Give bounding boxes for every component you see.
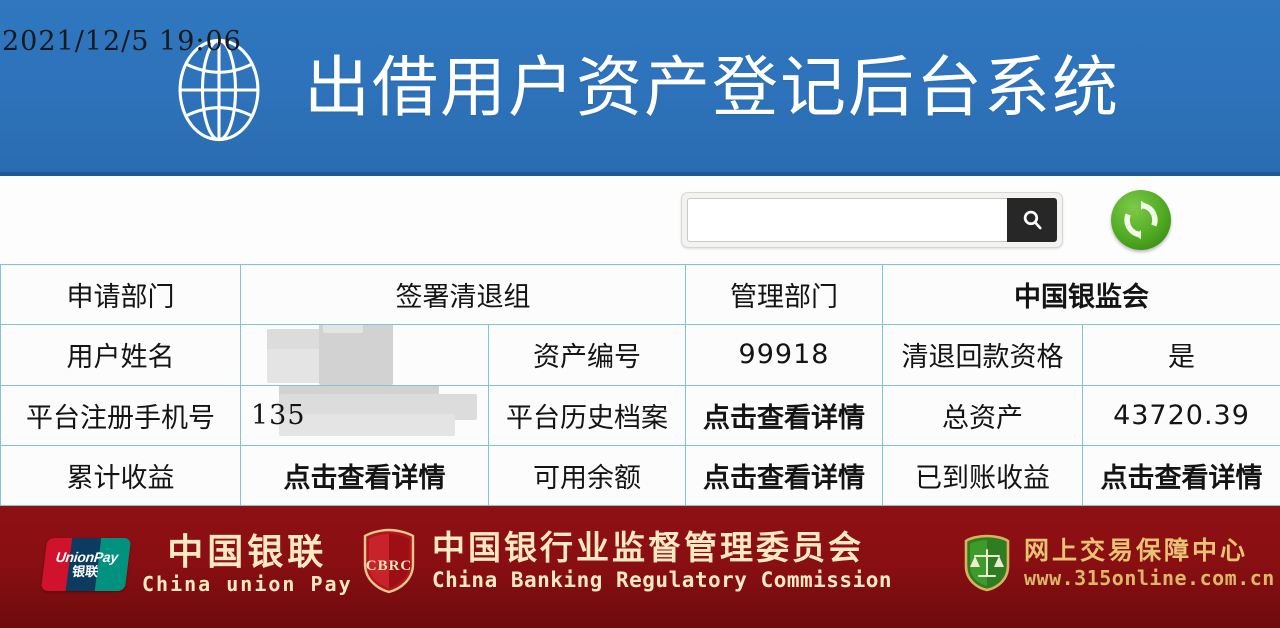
link-cumulative-income-detail[interactable]: 点击查看详情 bbox=[241, 445, 489, 505]
unionpay-mark-line2: 银联 bbox=[71, 565, 99, 579]
refresh-icon bbox=[1119, 198, 1163, 242]
cell-label-asset-no: 资产编号 bbox=[489, 325, 686, 385]
cbrc-label-en: China Banking Regulatory Commission bbox=[432, 569, 892, 591]
unionpay-label-cn: 中国银联 bbox=[167, 534, 327, 572]
info-table-container: 申请部门 签署清退组 管理部门 中国银监会 用户姓名 资产编号 99918 bbox=[0, 264, 1280, 506]
cell-label-apply-dept: 申请部门 bbox=[1, 265, 241, 325]
logo-unionpay: UnionPay 银联 中国银联 China union Pay bbox=[44, 534, 353, 595]
page-title: 出借用户资产登记后台系统 bbox=[304, 55, 1120, 121]
cell-value-phone-redacted: 135 bbox=[241, 385, 489, 445]
label-315-url: www.315online.com.cn bbox=[1024, 567, 1275, 589]
search-box bbox=[681, 192, 1063, 248]
cell-value-asset-no: 99918 bbox=[686, 325, 883, 385]
search-input[interactable] bbox=[687, 198, 1007, 242]
unionpay-label-en: China union Pay bbox=[142, 574, 353, 595]
cell-label-refund-qualification: 清退回款资格 bbox=[883, 325, 1083, 385]
table-row: 平台注册手机号 135 平台历史档案 点击查看详情 总资产 43720.39 bbox=[1, 385, 1280, 445]
logo-cbrc: CBRC 中国银行业监督管理委员会 China Banking Regulato… bbox=[360, 528, 892, 594]
search-icon bbox=[1020, 208, 1045, 233]
page-root: 出借用户资产登记后台系统 2021/12/5 19:06 bbox=[0, 0, 1280, 628]
unionpay-mark-line1: UnionPay bbox=[55, 550, 119, 565]
scales-shield-icon bbox=[962, 534, 1012, 592]
cbrc-shield-icon: CBRC bbox=[360, 528, 418, 594]
cell-value-username-redacted bbox=[241, 325, 489, 385]
cell-label-manage-dept: 管理部门 bbox=[686, 265, 883, 325]
phone-prefix: 135 bbox=[251, 400, 306, 431]
cell-value-manage-dept: 中国银监会 bbox=[883, 265, 1280, 325]
link-history-detail[interactable]: 点击查看详情 bbox=[686, 385, 883, 445]
unionpay-card-icon: UnionPay 银联 bbox=[41, 538, 132, 591]
cell-label-username: 用户姓名 bbox=[1, 325, 241, 385]
toolbar bbox=[0, 176, 1280, 264]
table-row: 用户姓名 资产编号 99918 清退回款资格 是 bbox=[1, 325, 1280, 385]
cell-label-total-assets: 总资产 bbox=[883, 385, 1083, 445]
cbrc-label-cn: 中国银行业监督管理委员会 bbox=[432, 531, 892, 566]
table-row: 申请部门 签署清退组 管理部门 中国银监会 bbox=[1, 265, 1280, 325]
label-315-cn: 网上交易保障中心 bbox=[1024, 537, 1275, 565]
refresh-button[interactable] bbox=[1111, 190, 1171, 250]
cell-value-total-assets: 43720.39 bbox=[1083, 385, 1280, 445]
cell-value-apply-dept: 签署清退组 bbox=[241, 265, 686, 325]
link-received-income-detail[interactable]: 点击查看详情 bbox=[1083, 445, 1280, 505]
cell-label-phone: 平台注册手机号 bbox=[1, 385, 241, 445]
search-button[interactable] bbox=[1007, 198, 1057, 242]
timestamp: 2021/12/5 19:06 bbox=[2, 26, 242, 57]
cell-label-received-income: 已到账收益 bbox=[883, 445, 1083, 505]
svg-text:CBRC: CBRC bbox=[366, 558, 413, 574]
cell-value-refund-qualification: 是 bbox=[1083, 325, 1280, 385]
cell-label-available-balance: 可用余额 bbox=[489, 445, 686, 505]
cell-label-cumulative-income: 累计收益 bbox=[1, 445, 241, 505]
cell-label-history: 平台历史档案 bbox=[489, 385, 686, 445]
link-available-balance-detail[interactable]: 点击查看详情 bbox=[686, 445, 883, 505]
logo-315online: 网上交易保障中心 www.315online.com.cn bbox=[962, 534, 1275, 592]
info-table: 申请部门 签署清退组 管理部门 中国银监会 用户姓名 资产编号 99918 bbox=[0, 264, 1280, 506]
table-row: 累计收益 点击查看详情 可用余额 点击查看详情 已到账收益 点击查看详情 bbox=[1, 445, 1280, 505]
